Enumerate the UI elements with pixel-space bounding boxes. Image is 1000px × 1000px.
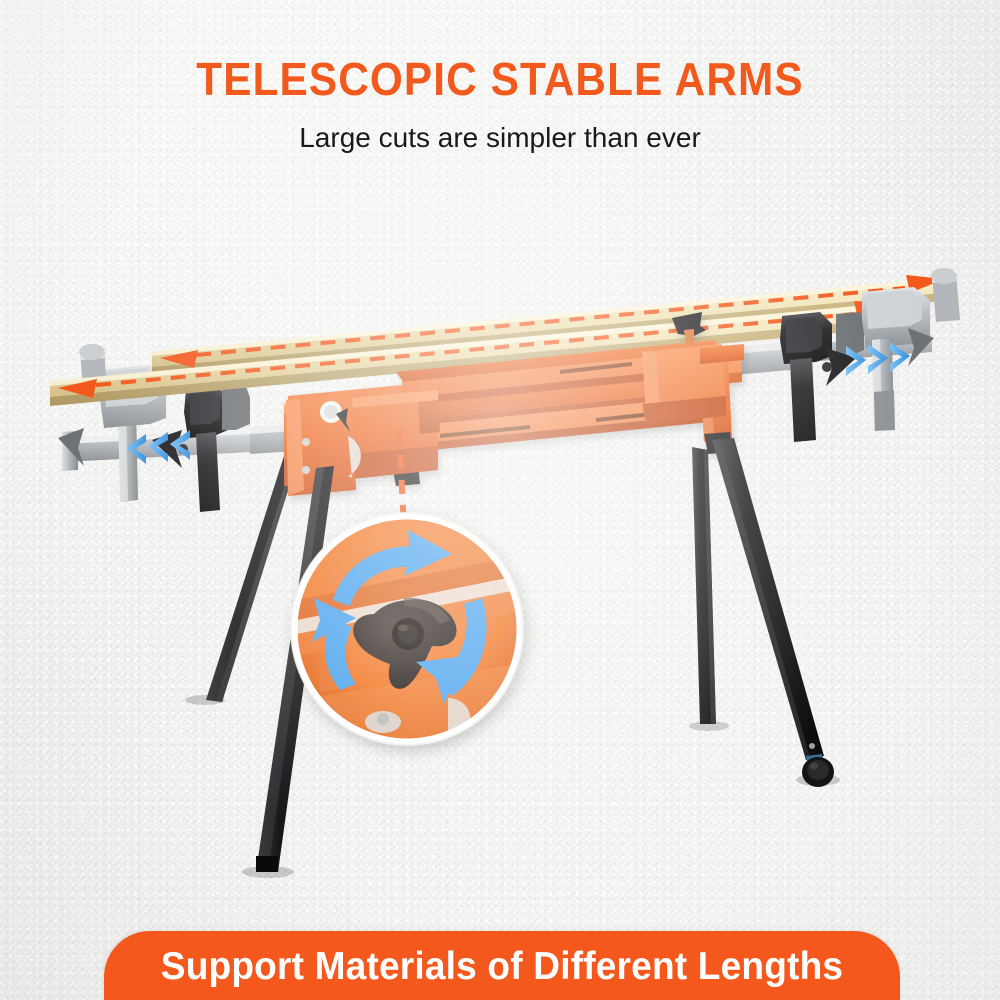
- page-subtitle: Large cuts are simpler than ever: [0, 122, 1000, 154]
- leg-rear-left: [206, 452, 300, 702]
- product-feature-image: TELESCOPIC STABLE ARMS Large cuts are si…: [0, 0, 1000, 1000]
- page-title: TELESCOPIC STABLE ARMS: [40, 52, 960, 106]
- caster-wheel: [802, 757, 834, 787]
- bottom-banner: Support Materials of Different Lengths: [104, 931, 900, 1000]
- bottom-banner-label: Support Materials of Different Lengths: [124, 945, 880, 989]
- locking-knob-detail-inset: [291, 513, 523, 745]
- leg-rear-right: [692, 447, 716, 724]
- leg-front-right: [712, 438, 834, 787]
